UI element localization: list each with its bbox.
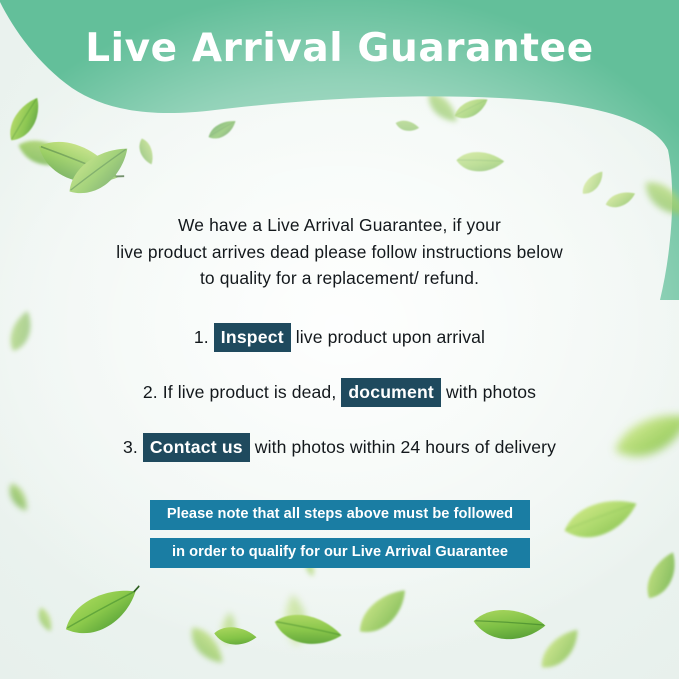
step-number: 3. (123, 437, 138, 458)
steps-list: 1. Inspect live product upon arrival 2. … (0, 318, 679, 483)
step-highlight-document: document (341, 378, 441, 407)
note-line-1: Please note that all steps above must be… (150, 500, 530, 530)
intro-paragraph: We have a Live Arrival Guarantee, if you… (0, 212, 679, 292)
step-number: 1. (194, 327, 209, 348)
note-block: Please note that all steps above must be… (150, 500, 530, 576)
live-arrival-guarantee-poster: Live Arrival Guarantee (0, 0, 679, 679)
poster-content: We have a Live Arrival Guarantee, if you… (0, 0, 679, 679)
step-highlight-contact-us: Contact us (143, 433, 250, 462)
step-text-after: with photos within 24 hours of delivery (255, 437, 556, 458)
step-number: 2. (143, 382, 158, 403)
step-text-before: If live product is dead, (163, 382, 337, 403)
intro-line-1: We have a Live Arrival Guarantee, if you… (0, 212, 679, 239)
intro-line-3: to quality for a replacement/ refund. (0, 265, 679, 292)
step-item-1: 1. Inspect live product upon arrival (0, 318, 679, 356)
step-text-after: live product upon arrival (296, 327, 485, 348)
note-line-2: in order to qualify for our Live Arrival… (150, 538, 530, 568)
step-item-2: 2. If live product is dead, document wit… (0, 373, 679, 411)
step-item-3: 3. Contact us with photos within 24 hour… (0, 428, 679, 466)
step-text-after: with photos (446, 382, 536, 403)
step-highlight-inspect: Inspect (214, 323, 291, 352)
intro-line-2: live product arrives dead please follow … (0, 239, 679, 266)
